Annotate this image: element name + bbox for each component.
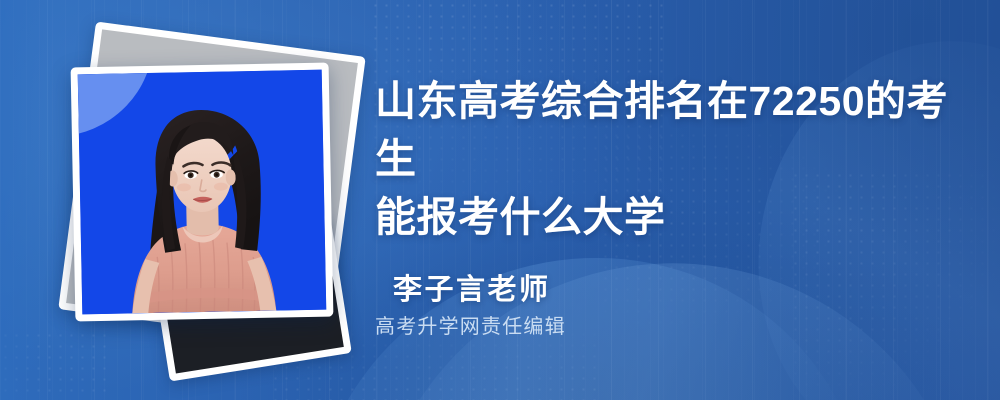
portrait-illustration [84,96,320,314]
author-photo [78,70,327,315]
article-cover-banner: 山东高考综合排名在72250的考生 能报考什么大学 李子言老师 高考升学网责任编… [0,0,1000,400]
photo-stack [40,30,360,370]
headline-block: 山东高考综合排名在72250的考生 能报考什么大学 [375,72,975,246]
author-role: 高考升学网责任编辑 [375,314,953,340]
author-photo-card [71,63,334,322]
byline-block: 李子言老师 高考升学网责任编辑 [393,272,953,340]
author-name: 李子言老师 [393,272,953,308]
page-title: 山东高考综合排名在72250的考生 能报考什么大学 [375,72,975,246]
